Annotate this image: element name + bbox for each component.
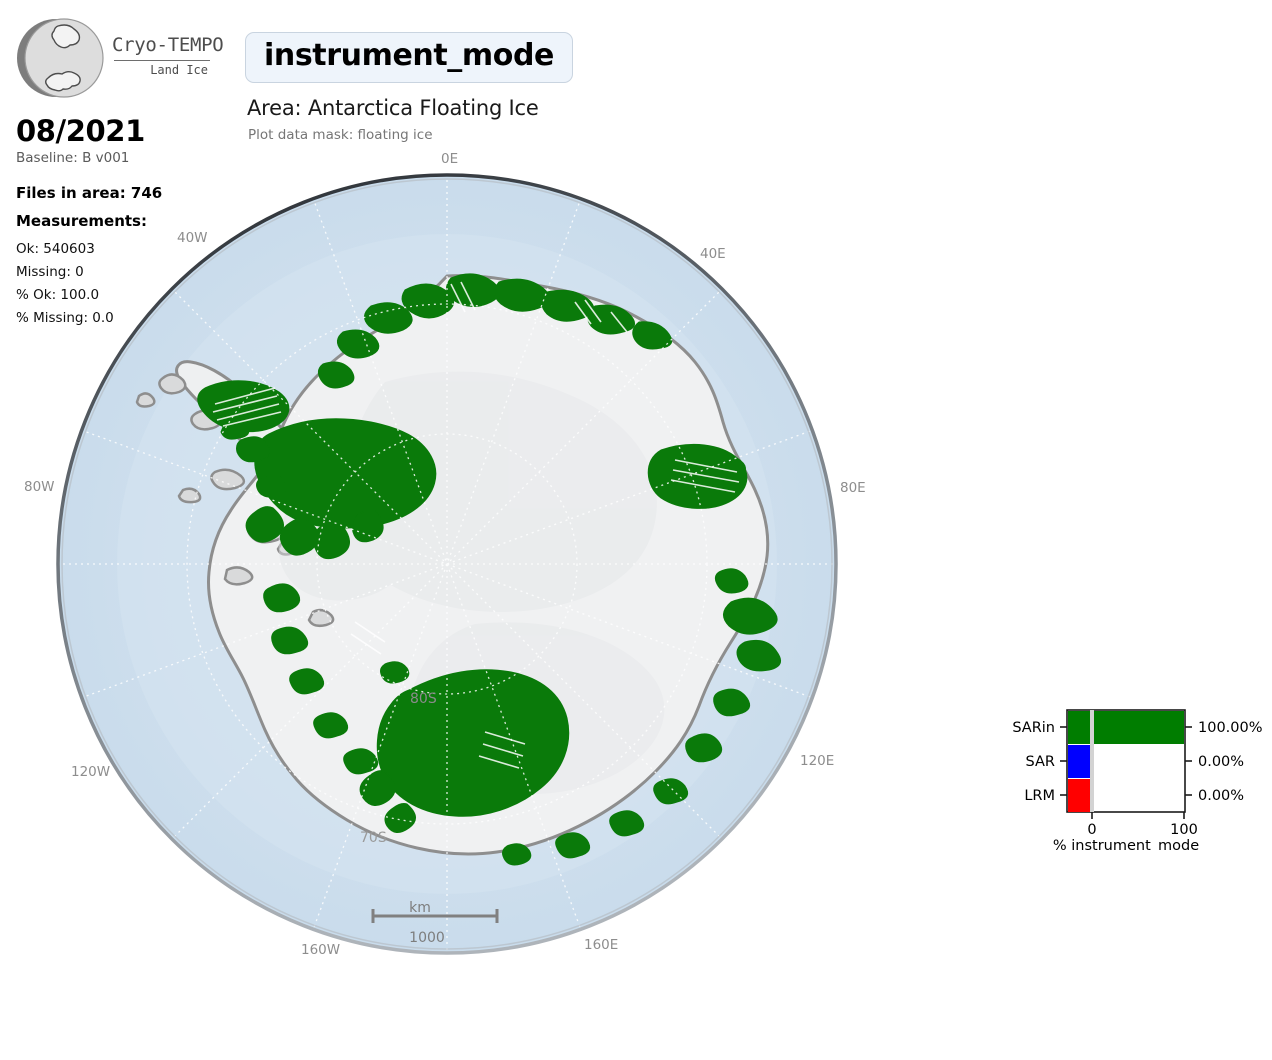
- plot-mask-subtitle: Plot data mask: floating ice: [248, 127, 433, 143]
- variable-title-box: instrument_mode: [245, 32, 573, 83]
- lon-label-40e: 40E: [700, 246, 726, 262]
- lon-label-160w: 160W: [301, 942, 340, 958]
- lon-label-0e: 0E: [441, 151, 458, 167]
- chart-value-lrm: 0.00%: [1198, 788, 1244, 804]
- bar-chart-canvas[interactable]: SARin SAR LRM 100.00% 0.00% 0.00% 0 100 …: [990, 700, 1272, 850]
- chart-ylabel-sar: SAR: [1026, 754, 1055, 770]
- antarctica-map[interactable]: 80S 70S km 1000: [55, 172, 839, 956]
- lat-label-70s: 70S: [360, 830, 387, 846]
- chart-zero-separator: [1090, 710, 1094, 812]
- lon-label-120w: 120W: [71, 764, 110, 780]
- area-title: Area: Antarctica Floating Ice: [247, 96, 539, 120]
- lon-label-80e: 80E: [840, 480, 866, 496]
- chart-ylabel-lrm: LRM: [1024, 788, 1055, 804]
- swatch-sar: [1068, 745, 1090, 778]
- instrument-mode-bar-chart[interactable]: SARin SAR LRM 100.00% 0.00% 0.00% 0 100 …: [990, 700, 1272, 850]
- lon-label-120e: 120E: [800, 753, 834, 769]
- lon-label-160e: 160E: [584, 937, 618, 953]
- chart-ylabel-sarin: SARin: [1012, 720, 1055, 736]
- logo-title: Cryo-TEMPO: [112, 36, 232, 55]
- lon-label-80w: 80W: [24, 479, 55, 495]
- logo-subtitle: Land Ice: [112, 64, 208, 76]
- scale-bar-value: 1000: [409, 930, 445, 946]
- bar-sarin[interactable]: [1094, 711, 1184, 744]
- scale-bar-unit: km: [409, 900, 431, 916]
- swatch-sarin: [1068, 711, 1090, 744]
- swatch-lrm: [1068, 779, 1090, 812]
- chart-xtick-100: 100: [1170, 822, 1198, 838]
- map-canvas[interactable]: 80S 70S km 1000: [55, 172, 839, 956]
- cryo-tempo-logo: [14, 12, 106, 104]
- baseline-label: Baseline: B v001: [16, 150, 236, 166]
- chart-value-sar: 0.00%: [1198, 754, 1244, 770]
- chart-xlabel: % instrument_mode: [1053, 838, 1199, 850]
- globe-icon: [14, 12, 106, 104]
- chart-xtick-0: 0: [1087, 822, 1096, 838]
- variable-title: instrument_mode: [264, 38, 554, 73]
- logo-divider: [114, 60, 210, 61]
- date-label: 08/2021: [16, 116, 236, 146]
- chart-value-sarin: 100.00%: [1198, 720, 1263, 736]
- logo-wordmark: Cryo-TEMPO Land Ice: [112, 36, 232, 76]
- lon-label-40w: 40W: [177, 230, 208, 246]
- lat-label-80s: 80S: [410, 691, 437, 707]
